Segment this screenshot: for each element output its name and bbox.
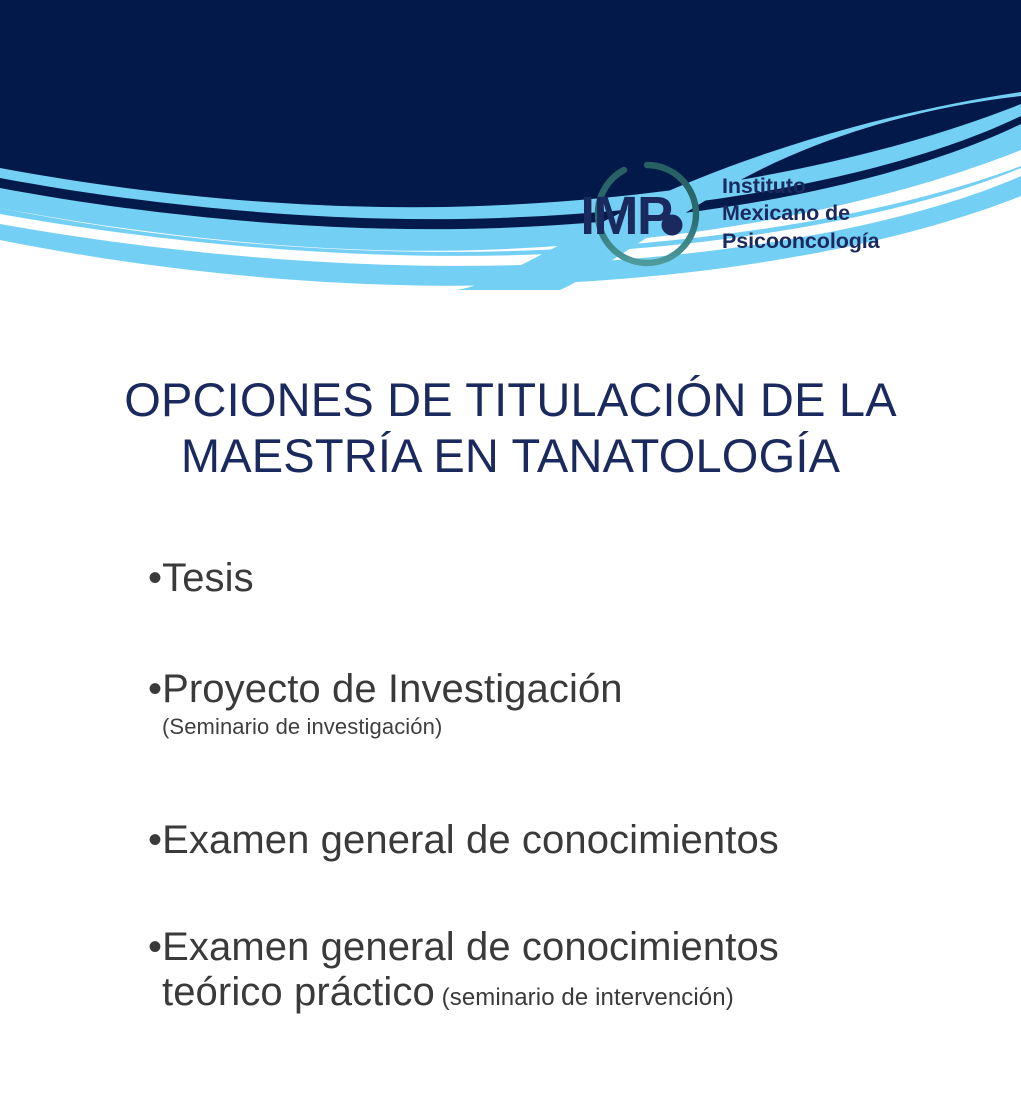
slide-title-line-2: MAESTRÍA EN TANATOLOGÍA <box>0 428 1021 484</box>
bullet-marker-icon: • <box>148 556 162 600</box>
list-item-label-line-2: teórico práctico (seminario de intervenc… <box>162 970 968 1015</box>
list-item: •Proyecto de Investigación (Seminario de… <box>148 667 968 740</box>
imp-logo: IMP Instituto Mexicano de Psicooncología <box>584 158 894 270</box>
list-item-subtext: (seminario de intervención) <box>435 984 734 1011</box>
list-item: •Examen general de conocimientos <box>148 818 968 863</box>
list-item-subtext: (Seminario de investigación) <box>162 714 968 740</box>
list-item-label: Examen general de conocimientos <box>162 925 779 969</box>
list-item: •Examen general de conocimientos teórico… <box>148 925 968 1015</box>
imp-period-dot <box>662 215 683 236</box>
logo-line-2: Mexicano de <box>722 200 880 228</box>
imp-logo-wordmark: Instituto Mexicano de Psicooncología <box>722 173 880 256</box>
list-item-label: Proyecto de Investigación <box>162 667 623 711</box>
imp-logo-mark: IMP <box>584 158 716 270</box>
slide-title: OPCIONES DE TITULACIÓN DE LA MAESTRÍA EN… <box>0 372 1021 485</box>
bullet-marker-icon: • <box>148 925 162 969</box>
list-item-label: Tesis <box>162 556 254 600</box>
logo-line-3: Psicooncología <box>722 228 880 256</box>
slide-canvas: IMP Instituto Mexicano de Psicooncología… <box>0 0 1021 1102</box>
bullet-marker-icon: • <box>148 667 162 711</box>
logo-line-1: Instituto <box>722 173 880 201</box>
imp-monogram-text: IMP <box>584 186 672 246</box>
list-item-label-continued: teórico práctico <box>162 970 435 1014</box>
list-item: •Tesis <box>148 556 968 601</box>
bullet-marker-icon: • <box>148 818 162 862</box>
list-item-label: Examen general de conocimientos <box>162 818 779 862</box>
bullet-list: •Tesis •Proyecto de Investigación (Semin… <box>148 556 968 1014</box>
slide-title-line-1: OPCIONES DE TITULACIÓN DE LA <box>0 372 1021 428</box>
